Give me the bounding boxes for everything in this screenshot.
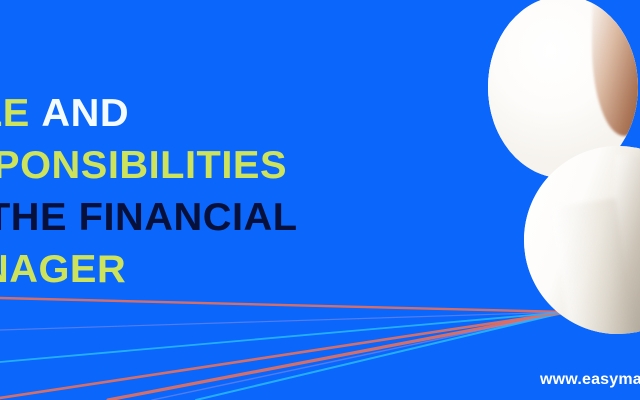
poster-canvas: LE AND SPONSIBILITIES THE FINANCIAL NAGE… [0, 0, 640, 400]
ray-cyan-2 [0, 312, 566, 362]
headline-line-2: SPONSIBILITIES [0, 140, 439, 192]
blob-bottom-circle [524, 146, 640, 334]
ray-red-2 [0, 312, 566, 398]
headline-line-4: NAGER [0, 244, 439, 296]
headline-line-1-space [30, 92, 42, 135]
headline-line-3: THE FINANCIAL [0, 192, 439, 244]
person-photo-blob [484, 0, 640, 342]
page-title: LE AND SPONSIBILITIES THE FINANCIAL NAGE… [0, 88, 430, 296]
headline-line-1-white: AND [41, 92, 129, 135]
website-url[interactable]: www.easyma [540, 371, 640, 389]
ray-red-3 [0, 298, 566, 312]
headline-line-1-lime: LE [0, 92, 30, 135]
ray-violet-2 [0, 312, 566, 330]
headline-line-1: LE AND [0, 88, 439, 140]
